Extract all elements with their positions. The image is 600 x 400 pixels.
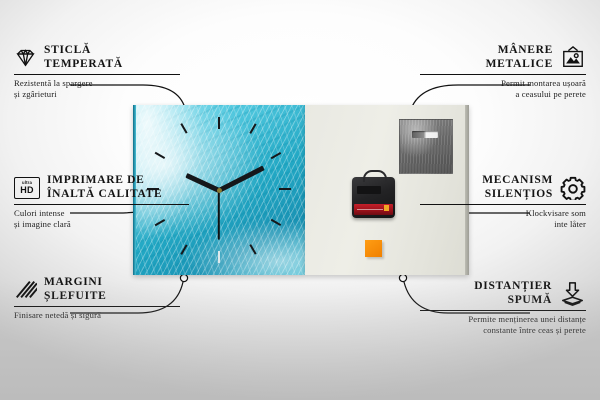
callout-title-line-1: MECANISM	[482, 174, 553, 186]
callout-sub-line-2: inte låter	[554, 219, 586, 229]
callout-title-line-2: SILENȚIOS	[485, 188, 553, 200]
callout-rule	[420, 310, 586, 311]
callout-sub-line-2: și imagine clară	[14, 219, 71, 229]
callout-title-line-1: DISTANȚIER	[474, 280, 552, 292]
callout-title-line-2: ȘLEFUITE	[44, 290, 106, 302]
clock-hour-hand	[185, 173, 220, 193]
battery-label-line	[357, 209, 383, 210]
callout-rule	[14, 204, 189, 205]
callout-title-line-1: IMPRIMARE DE	[47, 174, 145, 186]
callout-rule	[14, 306, 180, 307]
callout-sub-line-1: Permite menținerea unei distanțe	[468, 314, 586, 324]
ultra-hd-icon: ultra HD	[14, 177, 40, 198]
connector-dot-edges	[180, 274, 187, 281]
clock-mechanism	[352, 177, 395, 218]
callout-sub-line-1: Culori intense	[14, 208, 65, 218]
diamond-icon	[14, 47, 37, 68]
callout-rule	[420, 204, 586, 205]
callout-silent-mechanism: MECANISM SILENȚIOS Klockvisare som inte …	[420, 174, 586, 230]
infographic-canvas: STICLĂ TEMPERATĂ Rezistentă la spargere …	[0, 0, 600, 400]
callout-title-line-2: METALICE	[486, 58, 553, 70]
callout-title-line-2: TEMPERATĂ	[44, 58, 123, 70]
callout-sub-line-2: constante între ceas și perete	[483, 325, 586, 335]
callout-sub-line-2: a ceasului pe perete	[515, 89, 586, 99]
callout-title-line-1: MARGINI	[44, 276, 103, 288]
callout-metal-handles: MÂNERE METALICE Permit montarea ușoară a…	[420, 44, 586, 100]
callout-title-line-1: MÂNERE	[498, 44, 553, 56]
ultra-hd-main-text: HD	[20, 186, 34, 195]
callout-high-quality-print: ultra HD IMPRIMARE DE ÎNALTĂ CALITATE Cu…	[14, 174, 189, 230]
callout-rule	[14, 74, 180, 75]
callout-polished-edges: MARGINI ȘLEFUITE Finisare netedă și sigu…	[14, 276, 180, 321]
connector-dot-spacer	[399, 274, 406, 281]
callout-rule	[420, 74, 586, 75]
callout-title-line-2: ÎNALTĂ CALITATE	[47, 188, 162, 200]
foam-spacer	[365, 240, 382, 257]
battery	[354, 204, 393, 215]
callout-sub-line-1: Klockvisare som	[526, 208, 586, 218]
gear-icon	[560, 175, 586, 200]
mechanism-slot	[357, 186, 381, 194]
callout-title-line-1: STICLĂ	[44, 44, 91, 56]
clock-second-hand	[218, 190, 220, 240]
layers-down-arrow-icon	[559, 281, 586, 307]
callout-sub-line-1: Rezistentă la spargere	[14, 78, 93, 88]
callout-foam-spacer: DISTANȚIER SPUMĂ Permite menținerea unei…	[420, 280, 586, 336]
callout-sub-line-2: și zgârieturi	[14, 89, 57, 99]
picture-frame-icon	[560, 46, 586, 70]
callout-tempered-glass: STICLĂ TEMPERATĂ Rezistentă la spargere …	[14, 44, 180, 100]
mechanism-loop	[363, 170, 387, 182]
diagonal-stripes-icon	[14, 279, 37, 300]
hanger-slot	[412, 131, 438, 138]
callout-sub-line-1: Finisare netedă și sigură	[14, 310, 101, 320]
callout-sub-line-1: Permit montarea ușoară	[501, 78, 586, 88]
clock-minute-hand	[218, 165, 265, 192]
clock-center-cap	[217, 188, 222, 193]
metal-hanger	[399, 119, 453, 174]
callout-title-line-2: SPUMĂ	[508, 294, 552, 306]
